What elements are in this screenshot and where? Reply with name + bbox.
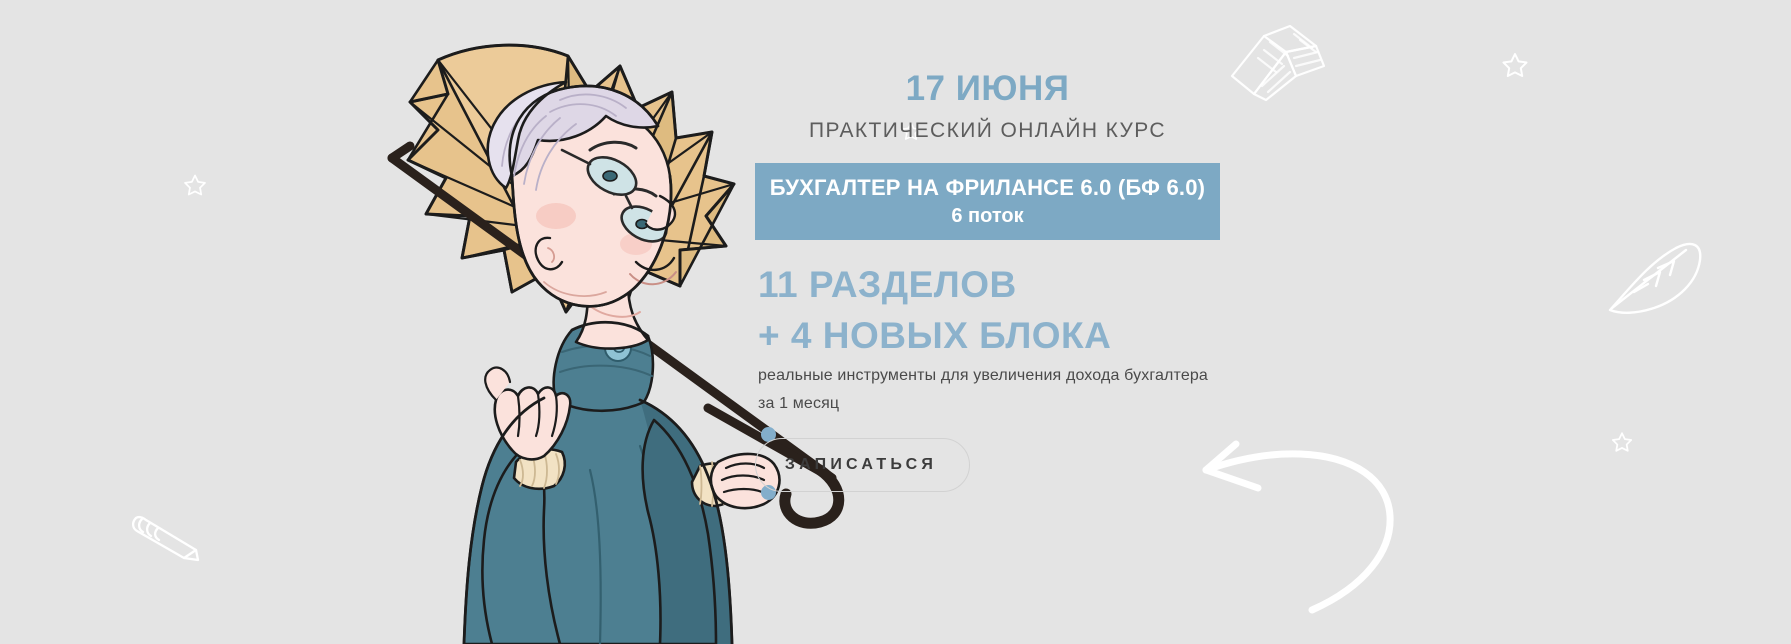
- description-line-1: реальные инструменты для увеличения дохо…: [758, 362, 1228, 390]
- hero-section: 17 ИЮНЯ ПРАКТИЧЕСКИЙ ОНЛАЙН КУРС БУХГАЛТ…: [0, 0, 1791, 644]
- headline-new-blocks: + 4 НОВЫХ БЛОКА: [758, 316, 1111, 357]
- leaf-doodle: [1600, 228, 1710, 318]
- headline-sections-count: 11 РАЗДЕЛОВ: [758, 265, 1017, 306]
- course-title: БУХГАЛТЕР НА ФРИЛАНСЕ 6.0 (БФ 6.0): [770, 174, 1205, 202]
- course-stream: 6 поток: [951, 203, 1023, 229]
- star-doodle-4: [1610, 430, 1634, 454]
- cta-container: ЗАПИСАТЬСЯ: [755, 432, 1015, 494]
- course-date: 17 ИЮНЯ: [755, 70, 1220, 109]
- course-subtitle: ПРАКТИЧЕСКИЙ ОНЛАЙН КУРС: [755, 118, 1220, 143]
- course-description: реальные инструменты для увеличения дохо…: [758, 362, 1228, 417]
- hero-text-column: 17 ИЮНЯ ПРАКТИЧЕСКИЙ ОНЛАЙН КУРС БУХГАЛТ…: [755, 0, 1455, 644]
- description-line-2: за 1 месяц: [758, 390, 1228, 418]
- signup-button[interactable]: ЗАПИСАТЬСЯ: [755, 438, 970, 492]
- course-title-banner: БУХГАЛТЕР НА ФРИЛАНСЕ 6.0 (БФ 6.0) 6 пот…: [755, 163, 1220, 240]
- star-doodle-1: [1500, 50, 1530, 80]
